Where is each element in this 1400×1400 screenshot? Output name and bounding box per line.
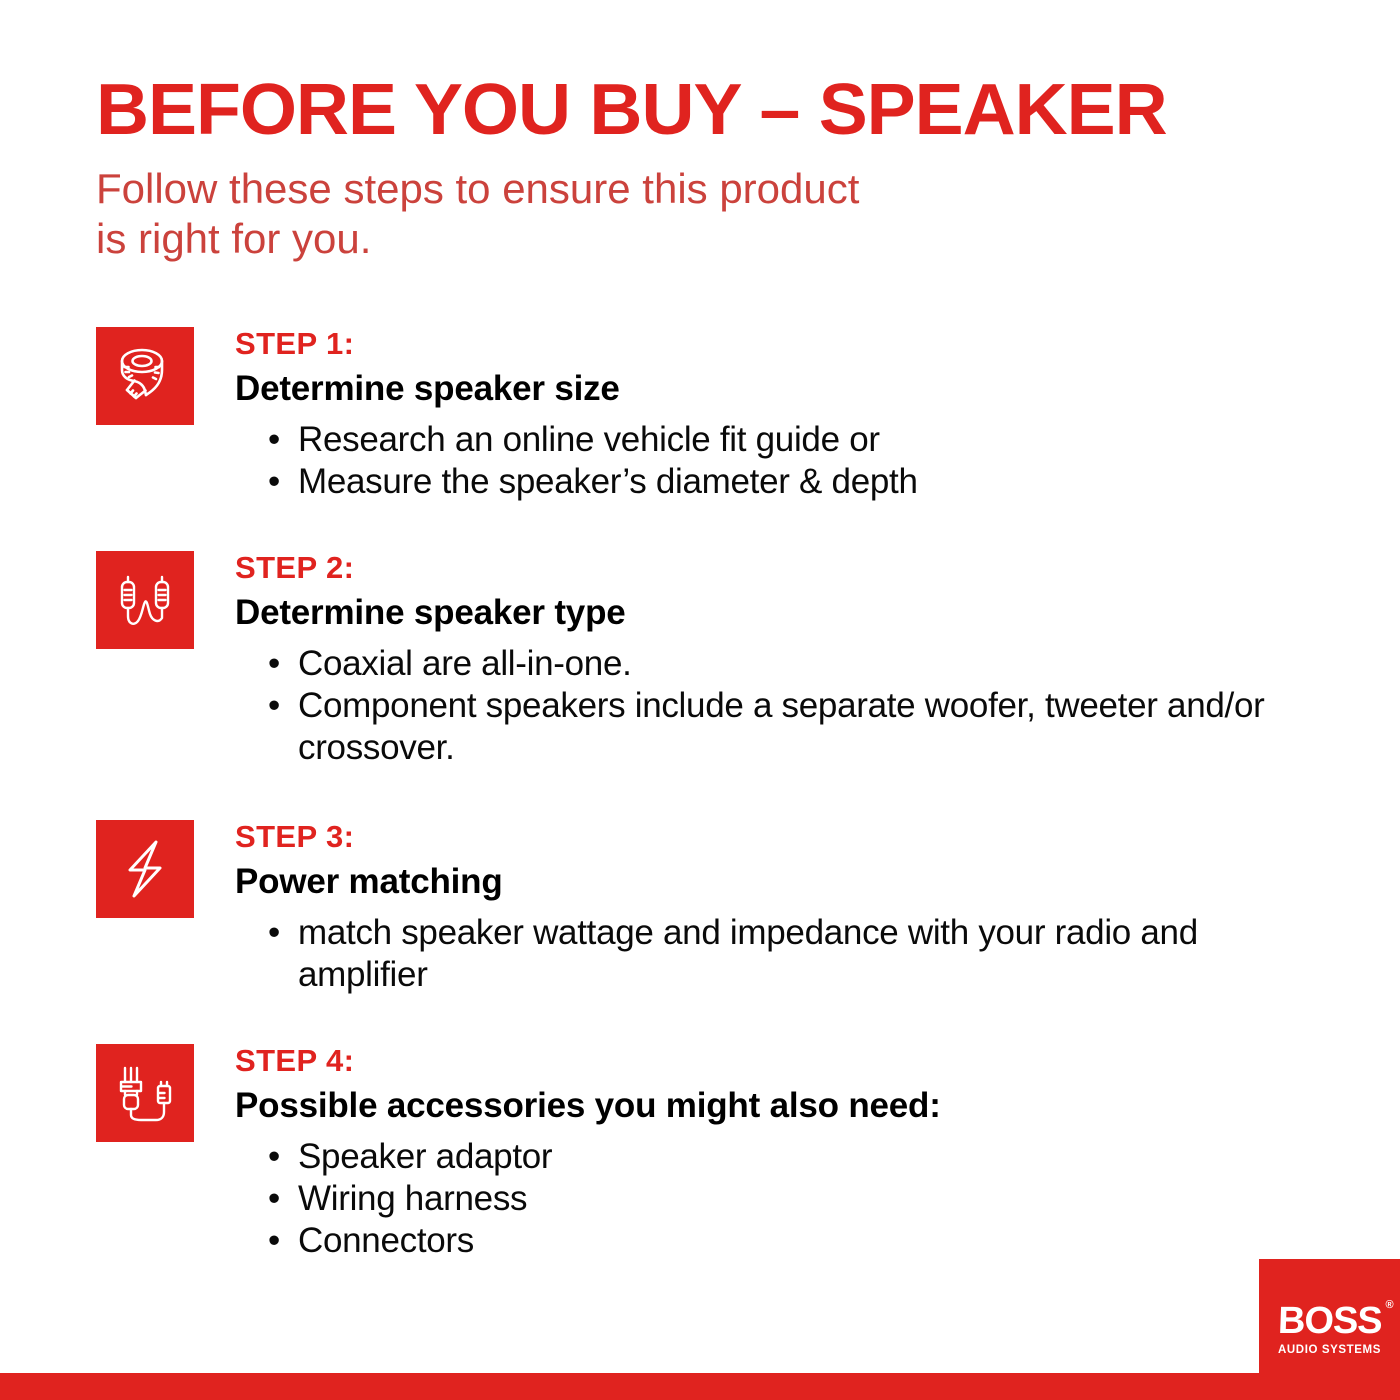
step-item-3: STEP 3: Power matching match speaker wat…: [96, 820, 1326, 996]
step-4-label: STEP 4:: [235, 1044, 1326, 1078]
step-4-bullets: Speaker adaptor Wiring harness Connector…: [268, 1136, 1326, 1262]
step-item-2: STEP 2: Determine speaker type Coaxial a…: [96, 551, 1326, 769]
page-title: BEFORE YOU BUY – SPEAKER: [96, 72, 1300, 148]
step-2-label: STEP 2:: [235, 551, 1326, 585]
page-subtitle: Follow these steps to ensure this produc…: [96, 164, 1276, 264]
step-3-heading: Power matching: [235, 862, 1326, 902]
list-item: match speaker wattage and impedance with…: [268, 912, 1326, 996]
step-3-body: STEP 3: Power matching match speaker wat…: [235, 820, 1326, 996]
step-1-heading: Determine speaker size: [235, 369, 1326, 409]
step-1-body: STEP 1: Determine speaker size Research …: [235, 327, 1326, 503]
registered-trademark-icon: ®: [1385, 1300, 1393, 1311]
list-item: Coaxial are all-in-one.: [268, 643, 1326, 685]
step-1-icon-box: [96, 327, 194, 425]
list-item: Research an online vehicle fit guide or: [268, 419, 1326, 461]
list-item: Component speakers include a separate wo…: [268, 685, 1326, 769]
step-4-icon-box: [96, 1044, 194, 1142]
lightning-bolt-icon: [112, 836, 178, 902]
step-4-body: STEP 4: Possible accessories you might a…: [235, 1044, 1326, 1262]
rca-cable-icon: [112, 567, 178, 633]
step-2-heading: Determine speaker type: [235, 593, 1326, 633]
step-3-bullets: match speaker wattage and impedance with…: [268, 912, 1326, 996]
boss-logo-wordmark: BOSS ®: [1277, 1302, 1382, 1340]
step-2-body: STEP 2: Determine speaker type Coaxial a…: [235, 551, 1326, 769]
step-item-1: STEP 1: Determine speaker size Research …: [96, 327, 1326, 503]
step-2-icon-box: [96, 551, 194, 649]
brand-logo-block: BOSS ® AUDIO SYSTEMS: [1259, 1259, 1400, 1400]
boss-logo-text: BOSS: [1277, 1300, 1382, 1342]
step-1-bullets: Research an online vehicle fit guide or …: [268, 419, 1326, 503]
step-item-4: STEP 4: Possible accessories you might a…: [96, 1044, 1326, 1262]
list-item: Speaker adaptor: [268, 1136, 1326, 1178]
step-3-icon-box: [96, 820, 194, 918]
subtitle-line-1: Follow these steps to ensure this produc…: [96, 164, 1276, 214]
boss-logo-subtext: AUDIO SYSTEMS: [1278, 1344, 1381, 1357]
step-2-bullets: Coaxial are all-in-one. Component speake…: [268, 643, 1326, 769]
infographic-page: BEFORE YOU BUY – SPEAKER Follow these st…: [0, 0, 1400, 1400]
wiring-harness-icon: [112, 1060, 178, 1126]
step-1-label: STEP 1:: [235, 327, 1326, 361]
measuring-tape-icon: [112, 343, 178, 409]
step-4-heading: Possible accessories you might also need…: [235, 1086, 1326, 1126]
footer-red-bar: [0, 1373, 1400, 1400]
subtitle-line-2: is right for you.: [96, 214, 1276, 264]
list-item: Connectors: [268, 1220, 1326, 1262]
list-item: Measure the speaker’s diameter & depth: [268, 461, 1326, 503]
step-3-label: STEP 3:: [235, 820, 1326, 854]
header: BEFORE YOU BUY – SPEAKER Follow these st…: [96, 72, 1276, 264]
list-item: Wiring harness: [268, 1178, 1326, 1220]
